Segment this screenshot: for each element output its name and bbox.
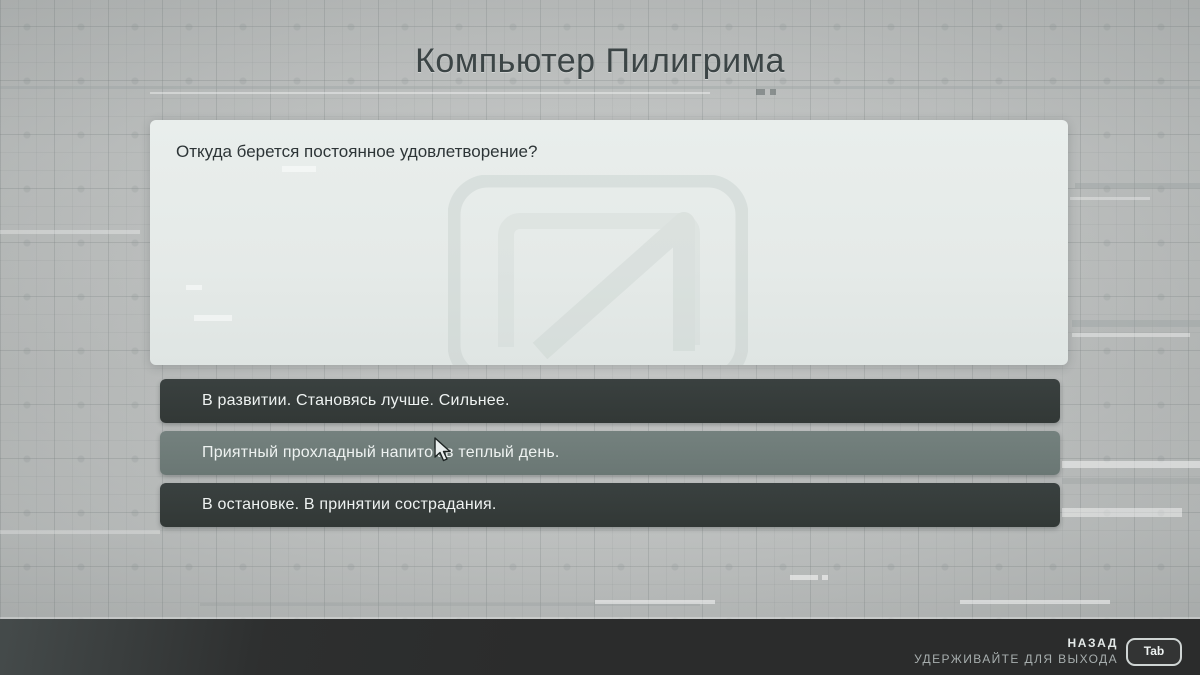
game-screen: Компьютер Пилигрима Откуда берется посто… [0, 0, 1200, 675]
page-title: Компьютер Пилигрима [0, 42, 1200, 81]
hold-to-exit-label: УДЕРЖИВАЙТЕ ДЛЯ ВЫХОДА [914, 652, 1118, 667]
tab-key-badge[interactable]: Tab [1126, 638, 1182, 666]
nomad-logo-watermark-icon [448, 175, 748, 365]
dialogue-option-3[interactable]: В остановке. В принятии сострадания. [160, 483, 1060, 527]
footer-divider [0, 617, 1200, 619]
dialogue-option-3-label: В остановке. В принятии сострадания. [202, 496, 497, 514]
dialogue-option-2[interactable]: Приятный прохладный напиток в теплый ден… [160, 431, 1060, 475]
panel-glitch [186, 285, 202, 290]
dialogue-option-1-label: В развитии. Становясь лучше. Сильнее. [202, 392, 510, 410]
mouse-pointer-icon [433, 437, 455, 463]
question-text: Откуда берется постоянное удовлетворение… [176, 140, 1042, 164]
dialogue-option-2-label: Приятный прохладный напиток в теплый ден… [202, 444, 560, 462]
dialogue-option-1[interactable]: В развитии. Становясь лучше. Сильнее. [160, 379, 1060, 423]
panel-glitch [282, 166, 316, 172]
back-label: НАЗАД [1067, 636, 1118, 651]
footer-hint: НАЗАД УДЕРЖИВАЙТЕ ДЛЯ ВЫХОДА Tab [914, 636, 1182, 667]
panel-glitch [194, 315, 232, 321]
question-panel: Откуда берется постоянное удовлетворение… [150, 120, 1068, 365]
